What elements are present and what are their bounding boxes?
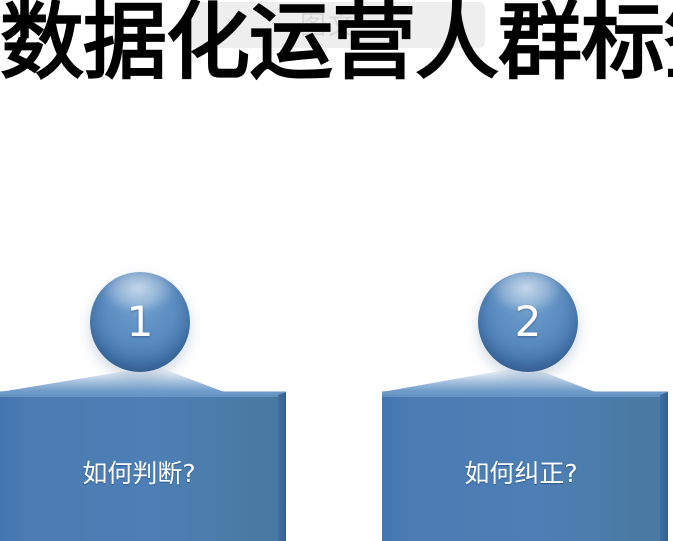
slide-canvas: 图文 数据化运营人群标签	[0, 0, 673, 541]
pedestal-2[interactable]: 如何纠正?	[320, 360, 673, 541]
sphere-1[interactable]: 1	[90, 272, 190, 372]
sphere-1-number: 1	[90, 272, 190, 372]
pedestal-1-label: 如何判断?	[0, 459, 278, 489]
pedestal-1[interactable]: 如何判断?	[0, 360, 286, 541]
pedestal-2-label: 如何纠正?	[382, 459, 660, 489]
pedestal-1-shape	[0, 360, 286, 541]
pedestal-2-shape	[320, 360, 673, 541]
page-title: 数据化运营人群标签	[0, 0, 673, 88]
sphere-2[interactable]: 2	[478, 272, 578, 372]
sphere-2-number: 2	[478, 272, 578, 372]
